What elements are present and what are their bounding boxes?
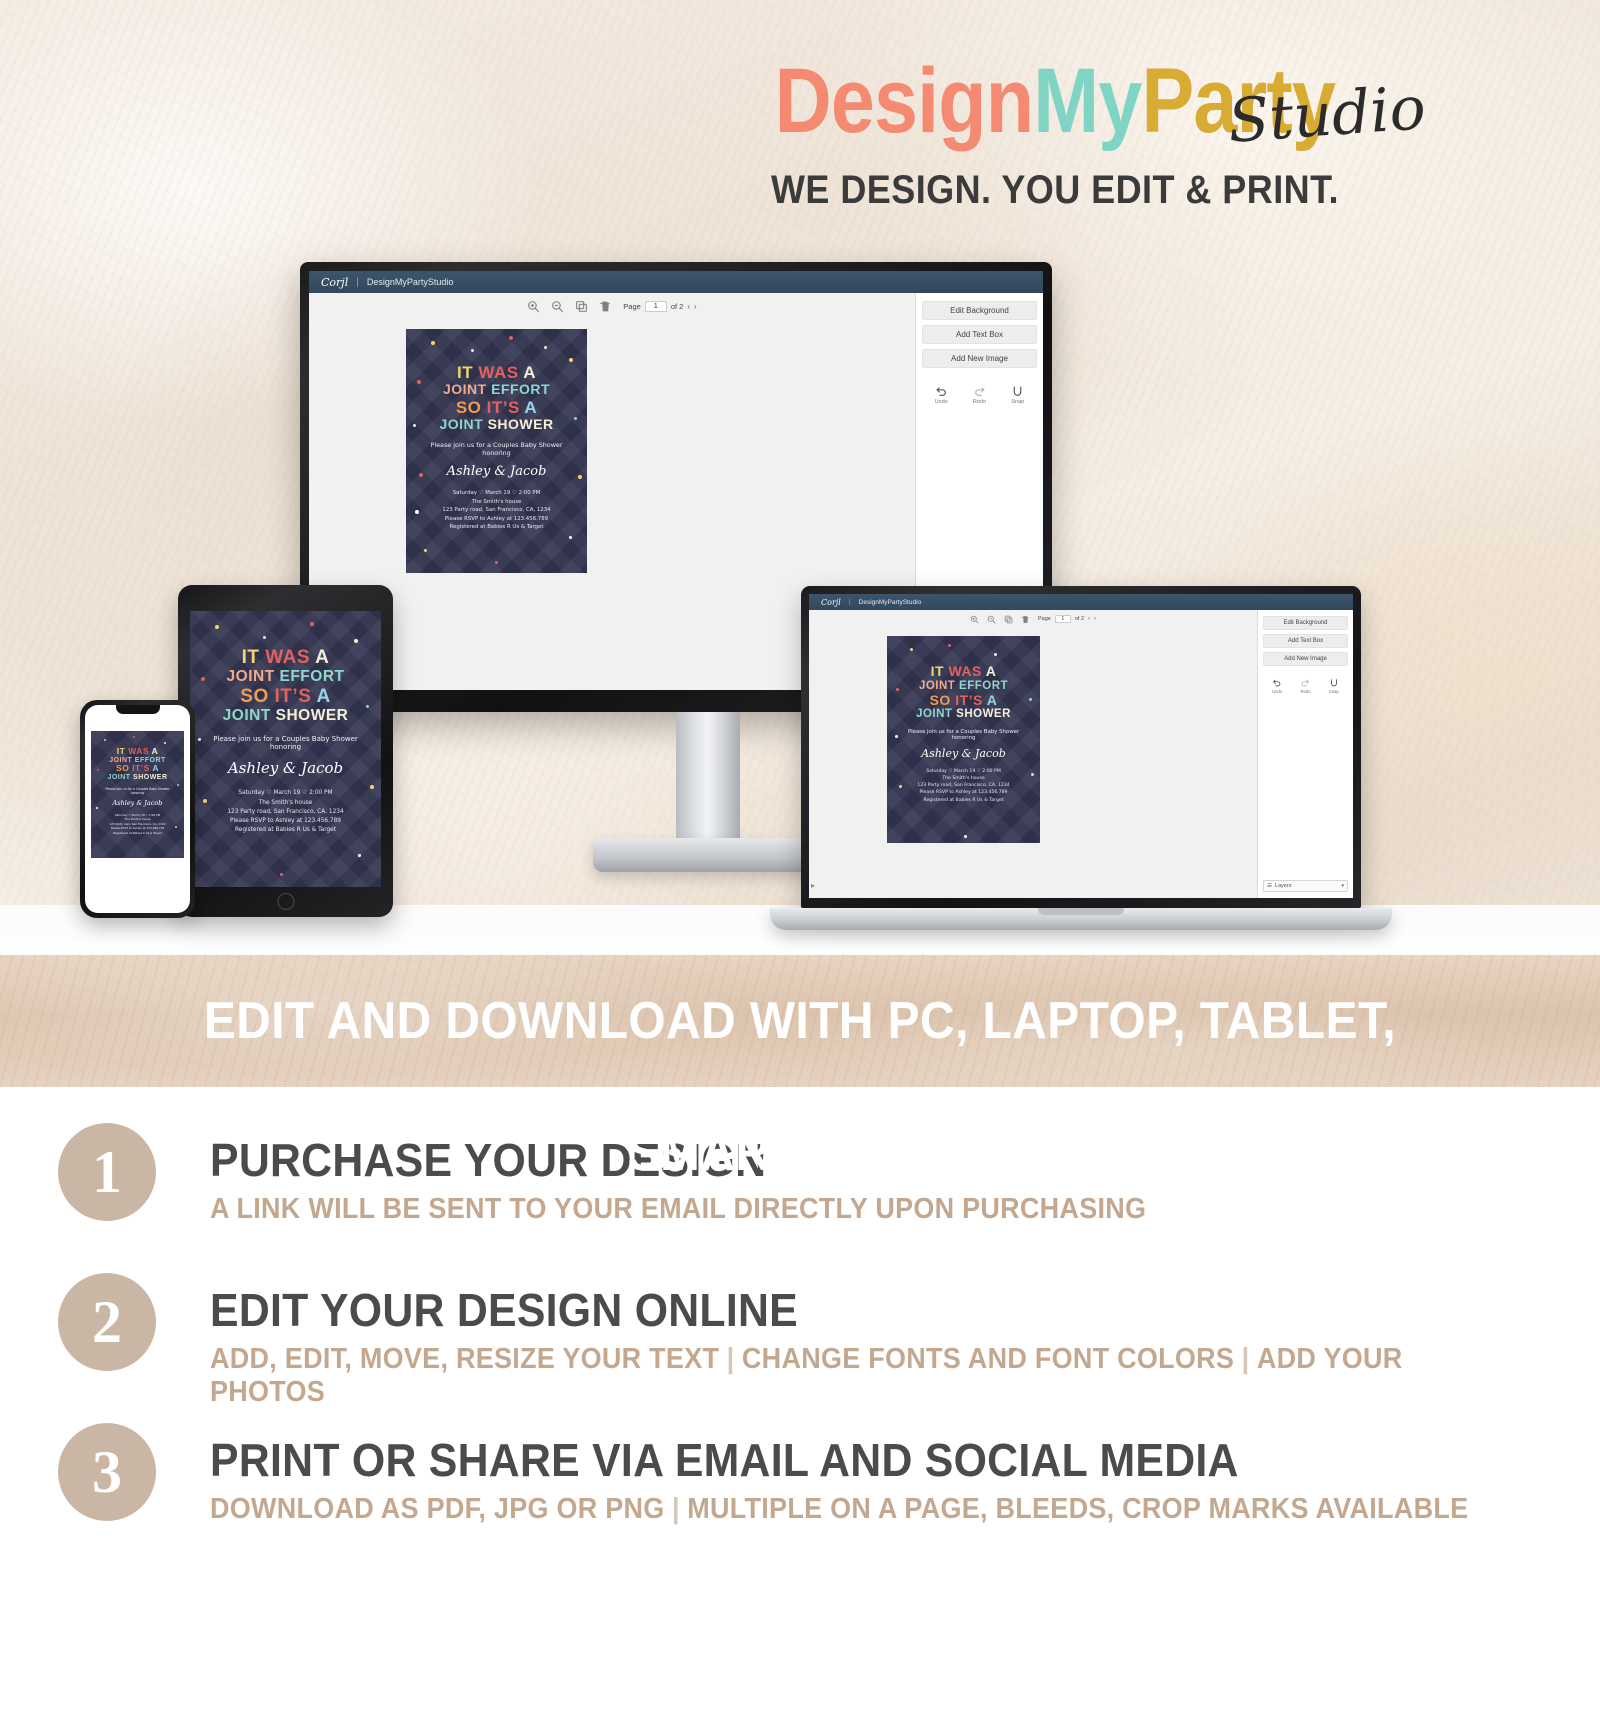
editor-tool-row: Undo Redo Snap xyxy=(922,385,1037,405)
step-2-sub-part-1: CHANGE FONTS AND FONT COLORS xyxy=(742,1343,1234,1375)
detail-line-3: Please RSVP to Ashley at 123.456.789 xyxy=(199,817,372,826)
redo-tool[interactable]: Redo xyxy=(1293,678,1317,694)
page-label: Page xyxy=(623,302,641,311)
page-input[interactable]: 1 xyxy=(1055,615,1071,623)
add-new-image-button[interactable]: Add New Image xyxy=(1263,652,1348,666)
step-2-title: EDIT YOUR DESIGN ONLINE xyxy=(210,1283,798,1337)
headline-line-4: JOINT SHOWER xyxy=(199,707,372,724)
invite-headline: IT WAS A JOINT EFFORT SO IT’S A JOINT SH… xyxy=(199,647,372,724)
snap-tool[interactable]: Snap xyxy=(1322,678,1346,694)
step-3-title: PRINT OR SHARE VIA EMAIL AND SOCIAL MEDI… xyxy=(210,1433,1239,1487)
page-navigator: Page 1 of 2 ‹ › xyxy=(623,301,696,312)
laptop-canvas-area: Page 1 of 2 ‹ › xyxy=(809,610,1257,898)
zoom-out-icon[interactable] xyxy=(551,300,564,313)
detail-line-0: Saturday ♡ March 19 ♡ 2:00 PM xyxy=(199,789,372,798)
headline-line-3: SO IT’S A xyxy=(895,693,1032,709)
headline-line-2: JOINT EFFORT xyxy=(199,668,372,685)
laptop-editor-sidebar: Edit Background Add Text Box Add New Ima… xyxy=(1257,610,1353,898)
step-3-number: 3 xyxy=(58,1423,156,1521)
laptop-editor-tool-row: Undo Redo Snap xyxy=(1263,678,1348,694)
snap-label: Snap xyxy=(1011,399,1024,405)
laptop-screen: Corjl | DesignMyPartyStudio Page 1 of 2 xyxy=(809,594,1353,898)
page-total: of 2 xyxy=(671,302,684,311)
undo-icon xyxy=(1272,678,1282,688)
invite-details: Saturday ♡ March 19 ♡ 2:00 PM The Smith'… xyxy=(199,789,372,835)
editor-toolbar: Page 1 of 2 ‹ › xyxy=(309,293,915,319)
tablet-screen: IT WAS A JOINT EFFORT SO IT’S A JOINT SH… xyxy=(190,611,381,887)
detail-line-1: The Smith's house xyxy=(895,775,1032,782)
invite-names: Ashley & Jacob xyxy=(199,759,372,777)
undo-tool[interactable]: Undo xyxy=(1265,678,1289,694)
phone-screen: IT WAS A JOINT EFFORT SO IT’S A JOINT SH… xyxy=(85,705,190,913)
tablet-invitation[interactable]: IT WAS A JOINT EFFORT SO IT’S A JOINT SH… xyxy=(190,611,381,887)
zoom-out-icon[interactable] xyxy=(987,615,996,624)
separator: | xyxy=(1234,1343,1257,1375)
headline-line-1: IT WAS A xyxy=(96,747,179,757)
step-2-subtitle: ADD, EDIT, MOVE, RESIZE YOUR TEXT|CHANGE… xyxy=(210,1343,1503,1409)
add-text-box-button[interactable]: Add Text Box xyxy=(1263,634,1348,648)
step-3-subtitle: DOWNLOAD AS PDF, JPG OR PNG|MULTIPLE ON … xyxy=(210,1493,1468,1526)
smartphone-mockup: IT WAS A JOINT EFFORT SO IT’S A JOINT SH… xyxy=(80,700,195,918)
headline-line-4: JOINT SHOWER xyxy=(96,774,179,782)
snap-tool[interactable]: Snap xyxy=(1003,385,1033,405)
headline-line-3: SO IT’S A xyxy=(96,764,179,774)
invite-details: Saturday ♡ March 19 ♡ 2:00 PM The Smith'… xyxy=(416,489,577,531)
laptop-editor-topbar: Corjl | DesignMyPartyStudio xyxy=(809,594,1353,610)
invite-subline-2: honoring xyxy=(416,449,577,457)
laptop-lid: Corjl | DesignMyPartyStudio Page 1 of 2 xyxy=(801,586,1361,908)
tablet-mockup: IT WAS A JOINT EFFORT SO IT’S A JOINT SH… xyxy=(178,585,393,917)
undo-tool[interactable]: Undo xyxy=(926,385,956,405)
undo-label: Undo xyxy=(935,399,948,405)
prev-page-icon[interactable]: ‹ xyxy=(687,302,690,311)
phone-body: IT WAS A JOINT EFFORT SO IT’S A JOINT SH… xyxy=(80,700,195,918)
redo-tool[interactable]: Redo xyxy=(964,385,994,405)
detail-line-4: Registered at Babies R Us & Target xyxy=(416,523,577,531)
detail-line-4: Registered at Babies R Us & Target xyxy=(96,831,179,835)
step-3-sub-part-1: MULTIPLE ON A PAGE, BLEEDS, CROP MARKS A… xyxy=(687,1493,1468,1525)
trash-icon[interactable] xyxy=(1021,615,1030,624)
detail-line-3: Please RSVP to Ashley at 123.456.789 xyxy=(416,515,577,523)
redo-icon xyxy=(1300,678,1310,688)
headline-line-4: JOINT SHOWER xyxy=(895,708,1032,721)
topbar-divider: | xyxy=(356,277,359,288)
trash-icon[interactable] xyxy=(599,300,612,313)
logo-design: Design xyxy=(775,55,1034,147)
invite-headline: IT WAS A JOINT EFFORT SO IT’S A JOINT SH… xyxy=(96,747,179,782)
phone-notch xyxy=(116,705,160,714)
laptop-base-notch xyxy=(1038,908,1124,915)
detail-line-4: Registered at Babies R Us & Target xyxy=(895,797,1032,804)
invite-details: Saturday ♡ March 19 ♡ 2:00 PM The Smith'… xyxy=(96,813,179,835)
laptop-topbar-divider: | xyxy=(849,599,851,606)
invite-headline: IT WAS A JOINT EFFORT SO IT’S A JOINT SH… xyxy=(895,664,1032,721)
brand-tagline: WE DESIGN. YOU EDIT & PRINT. xyxy=(700,168,1411,213)
step-3: 3 PRINT OR SHARE VIA EMAIL AND SOCIAL ME… xyxy=(0,1405,1600,1555)
invite-subline-1: Please join us for a Couples Baby Shower xyxy=(199,735,372,743)
add-text-box-button[interactable]: Add Text Box xyxy=(922,325,1037,344)
laptop-editor-toolbar: Page 1 of 2 ‹ › xyxy=(809,610,1257,628)
snap-label: Snap xyxy=(1329,689,1339,694)
step-2-number: 2 xyxy=(58,1273,156,1371)
invite-names: Ashley & Jacob xyxy=(895,747,1032,760)
headline-line-2: JOINT EFFORT xyxy=(416,382,577,398)
detail-line-2: 123 Party road, San Francisco, CA, 1234 xyxy=(199,808,372,817)
tablet-home-button[interactable] xyxy=(277,893,294,910)
detail-line-0: Saturday ♡ March 19 ♡ 2:00 PM xyxy=(895,768,1032,775)
headline-line-1: IT WAS A xyxy=(895,664,1032,680)
invite-subline-2: honoring xyxy=(96,791,179,795)
laptop-corjl-logo: Corjl xyxy=(821,598,841,607)
add-new-image-button[interactable]: Add New Image xyxy=(922,349,1037,368)
zoom-in-icon[interactable] xyxy=(970,615,979,624)
banner-text: EDIT AND DOWNLOAD WITH PC, LAPTOP, TABLE… xyxy=(64,955,1536,1219)
invite-headline: IT WAS A JOINT EFFORT SO IT’S A JOINT SH… xyxy=(416,363,577,432)
undo-label: Undo xyxy=(1272,689,1282,694)
sidebar-collapse-handle[interactable]: ▸ xyxy=(811,881,815,890)
headline-line-1: IT WAS A xyxy=(416,363,577,382)
invite-subline-2: honoring xyxy=(895,735,1032,741)
logo-studio-script: Studio xyxy=(1226,73,1428,157)
page-label: Page xyxy=(1038,616,1051,622)
detail-line-1: The Smith's house xyxy=(416,498,577,506)
headline-line-3: SO IT’S A xyxy=(199,686,372,707)
layers-dropdown[interactable]: ☰ Layers ▾ xyxy=(1263,880,1348,892)
edit-background-button[interactable]: Edit Background xyxy=(922,301,1037,320)
shop-name: DesignMyPartyStudio xyxy=(367,277,454,287)
next-page-icon[interactable]: › xyxy=(1094,616,1096,622)
invitation-canvas[interactable]: IT WAS A JOINT EFFORT SO IT’S A JOINT SH… xyxy=(406,329,587,573)
invite-subline-1: Please join us for a Couples Baby Shower xyxy=(416,441,577,449)
redo-label: Redo xyxy=(1300,689,1310,694)
chevron-down-icon: ▾ xyxy=(1341,883,1344,889)
undo-icon xyxy=(935,385,948,398)
redo-label: Redo xyxy=(973,399,986,405)
phone-invitation[interactable]: IT WAS A JOINT EFFORT SO IT’S A JOINT SH… xyxy=(91,731,184,858)
snap-icon xyxy=(1329,678,1339,688)
detail-line-2: 123 Party road, San Francisco, CA, 1234 xyxy=(895,782,1032,789)
edit-background-button[interactable]: Edit Background xyxy=(1263,616,1348,630)
corjl-logo: Corjl xyxy=(321,276,348,289)
invite-subline-2: honoring xyxy=(199,743,372,751)
detail-line-3: Please RSVP to Ashley at 123.456.789 xyxy=(895,789,1032,796)
zoom-in-icon[interactable] xyxy=(527,300,540,313)
duplicate-icon[interactable] xyxy=(575,300,588,313)
detail-line-1: The Smith's house xyxy=(199,799,372,808)
invite-names: Ashley & Jacob xyxy=(416,464,577,479)
devices-banner: EDIT AND DOWNLOAD WITH PC, LAPTOP, TABLE… xyxy=(0,955,1600,1087)
separator: | xyxy=(719,1343,742,1375)
laptop-page-navigator: Page 1 of 2 ‹ › xyxy=(1038,615,1096,623)
laptop-invitation-canvas[interactable]: IT WAS A JOINT EFFORT SO IT’S A JOINT SH… xyxy=(887,636,1040,843)
step-2: 2 EDIT YOUR DESIGN ONLINE ADD, EDIT, MOV… xyxy=(0,1255,1600,1405)
logo-my: My xyxy=(1033,55,1141,147)
tablet-body: IT WAS A JOINT EFFORT SO IT’S A JOINT SH… xyxy=(178,585,393,917)
step-2-sub-part-0: ADD, EDIT, MOVE, RESIZE YOUR TEXT xyxy=(210,1343,719,1375)
detail-line-4: Registered at Babies R Us & Target xyxy=(199,826,372,835)
monitor-stand-neck xyxy=(676,712,740,842)
page-total: of 2 xyxy=(1075,616,1084,622)
laptop-mockup: Corjl | DesignMyPartyStudio Page 1 of 2 xyxy=(770,586,1392,936)
next-page-icon[interactable]: › xyxy=(694,302,697,311)
headline-line-4: JOINT SHOWER xyxy=(416,417,577,433)
headline-line-1: IT WAS A xyxy=(199,647,372,668)
layers-label: Layers xyxy=(1275,883,1292,889)
prev-page-icon[interactable]: ‹ xyxy=(1088,616,1090,622)
step-3-sub-part-0: DOWNLOAD AS PDF, JPG OR PNG xyxy=(210,1493,665,1525)
invite-names: Ashley & Jacob xyxy=(96,799,179,807)
snap-icon xyxy=(1011,385,1024,398)
redo-icon xyxy=(973,385,986,398)
duplicate-icon[interactable] xyxy=(1004,615,1013,624)
laptop-shop-name: DesignMyPartyStudio xyxy=(859,599,922,606)
invite-details: Saturday ♡ March 19 ♡ 2:00 PM The Smith'… xyxy=(895,768,1032,804)
editor-topbar: Corjl | DesignMyPartyStudio xyxy=(309,271,1043,293)
headline-line-3: SO IT’S A xyxy=(416,398,577,417)
page-input[interactable]: 1 xyxy=(645,301,667,312)
separator: | xyxy=(665,1493,688,1525)
detail-line-0: Saturday ♡ March 19 ♡ 2:00 PM xyxy=(416,489,577,497)
layers-icon: ☰ xyxy=(1267,883,1272,889)
detail-line-2: 123 Party road, San Francisco, CA, 1234 xyxy=(416,506,577,514)
